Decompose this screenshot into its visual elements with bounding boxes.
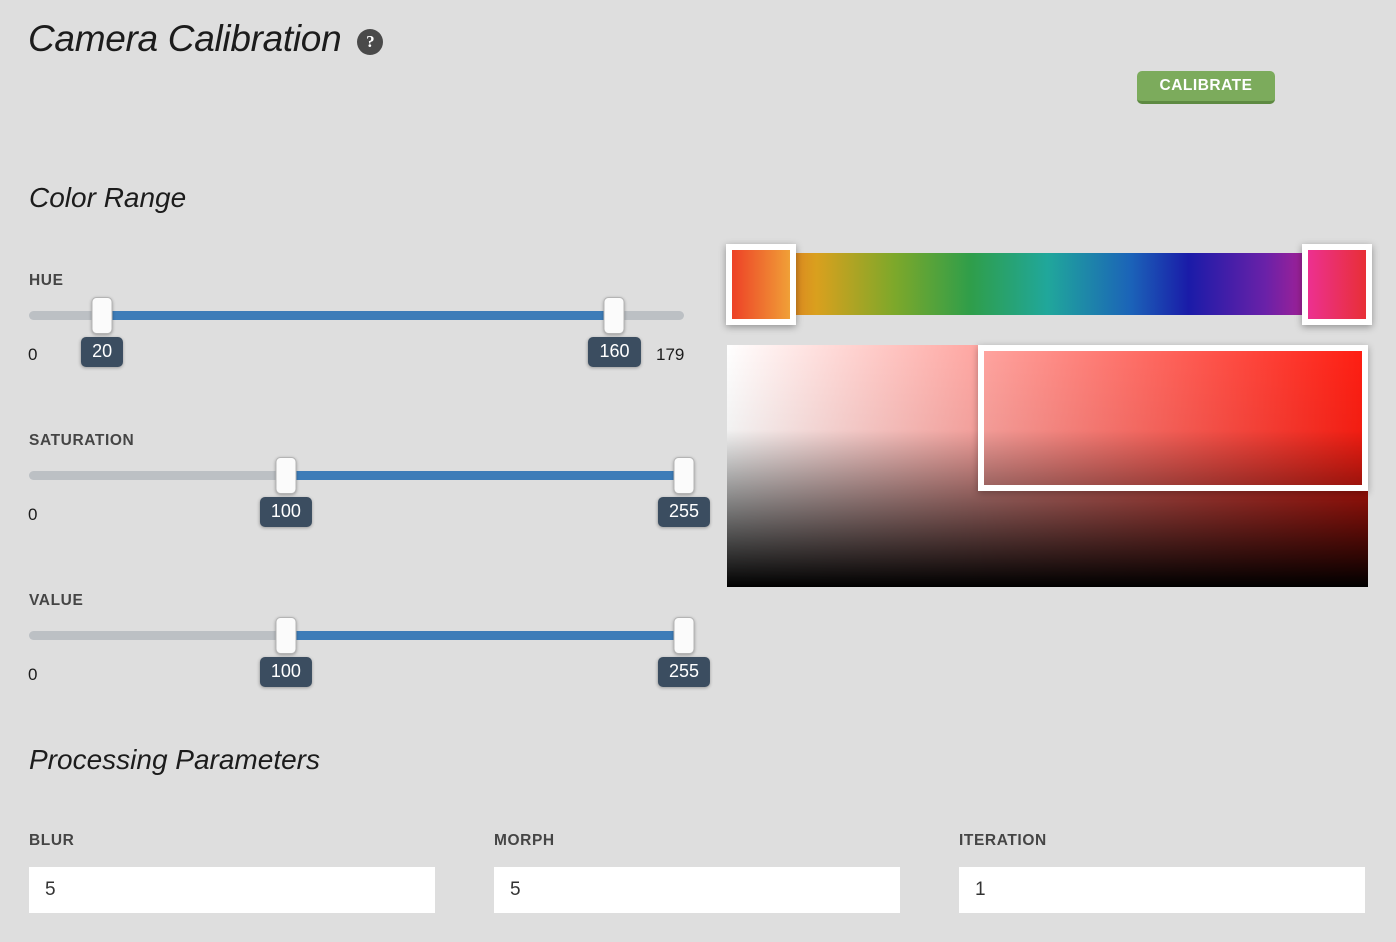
slider-handle-hue-low[interactable] (92, 297, 113, 334)
param-field-iteration: ITERATION (959, 832, 1365, 913)
slider-value-badge-value-low: 100 (260, 657, 312, 687)
slider-scale-value: 0 100 255 (29, 657, 684, 697)
param-field-morph: MORPH (494, 832, 900, 913)
slider-handle-hue-high[interactable] (604, 297, 625, 334)
slider-track-value[interactable] (29, 631, 684, 641)
slider-min-label-saturation: 0 (28, 505, 37, 525)
slider-scale-hue: 0 20 160 179 (29, 337, 684, 377)
slider-fill-value (286, 631, 684, 640)
help-circle-icon[interactable]: ? (357, 29, 383, 55)
slider-value-badge-saturation-high: 255 (658, 497, 710, 527)
slider-group-value: VALUE 0 100 255 (29, 592, 689, 697)
hue-gradient-strip[interactable] (727, 253, 1368, 315)
slider-label-saturation: SATURATION (29, 432, 689, 450)
slider-handle-saturation-low[interactable] (275, 457, 296, 494)
section-heading-color-range: Color Range (29, 182, 186, 214)
slider-fill-hue (102, 311, 614, 320)
param-field-blur: BLUR (29, 832, 435, 913)
slider-group-saturation: SATURATION 0 100 255 (29, 432, 689, 537)
page-title: Camera Calibration (28, 18, 341, 60)
slider-label-value: VALUE (29, 592, 689, 610)
calibrate-button[interactable]: CALIBRATE (1137, 71, 1275, 104)
slider-max-label-hue: 179 (656, 345, 684, 365)
slider-value-badge-hue-low: 20 (81, 337, 123, 367)
slider-label-hue: HUE (29, 272, 689, 290)
section-heading-processing: Processing Parameters (29, 744, 320, 776)
slider-track-saturation[interactable] (29, 471, 684, 481)
morph-input[interactable] (494, 867, 900, 913)
param-label-morph: MORPH (494, 832, 900, 850)
slider-value-badge-value-high: 255 (658, 657, 710, 687)
slider-min-label-hue: 0 (28, 345, 37, 365)
iteration-input[interactable] (959, 867, 1365, 913)
page-header: Camera Calibration ? (28, 18, 383, 60)
param-label-blur: BLUR (29, 832, 435, 850)
hue-marker-low[interactable] (726, 244, 796, 325)
slider-group-hue: HUE 0 20 160 179 (29, 272, 689, 377)
param-label-iteration: ITERATION (959, 832, 1365, 850)
blur-input[interactable] (29, 867, 435, 913)
slider-value-badge-saturation-low: 100 (260, 497, 312, 527)
slider-fill-saturation (286, 471, 684, 480)
slider-handle-value-low[interactable] (275, 617, 296, 654)
slider-scale-saturation: 0 100 255 (29, 497, 684, 537)
slider-value-badge-hue-high: 160 (588, 337, 640, 367)
saturation-value-square[interactable] (727, 345, 1368, 587)
hue-marker-high[interactable] (1302, 244, 1372, 325)
slider-track-hue[interactable] (29, 311, 684, 321)
slider-handle-saturation-high[interactable] (674, 457, 695, 494)
slider-min-label-value: 0 (28, 665, 37, 685)
slider-handle-value-high[interactable] (674, 617, 695, 654)
